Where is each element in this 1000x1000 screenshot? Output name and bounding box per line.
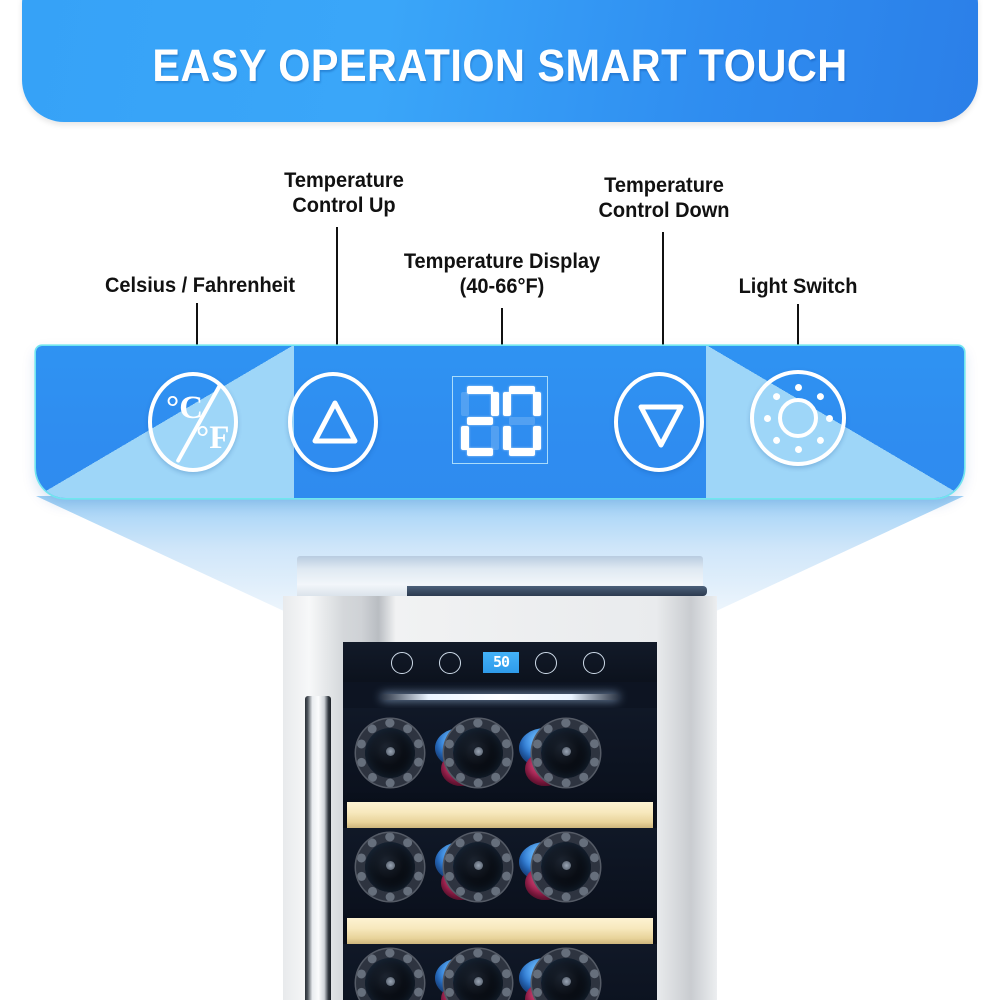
- bottle-row: [343, 714, 657, 800]
- wine-cooler: 50: [283, 556, 717, 1000]
- callout-label-temperature-display: Temperature Display (40-66°F): [390, 249, 613, 299]
- mini-sun-icon[interactable]: [583, 652, 605, 674]
- callout-label-celsius-fahrenheit: Celsius / Fahrenheit: [100, 273, 301, 298]
- infographic-canvas: EASY OPERATION SMART TOUCH Celsius / Fah…: [0, 0, 1000, 1000]
- triangle-down-icon: [614, 372, 704, 472]
- mini-triangle-down-icon[interactable]: [535, 652, 557, 674]
- wooden-shelf: [347, 802, 653, 828]
- temp-up-button[interactable]: [288, 372, 378, 472]
- mini-celsius-fahrenheit-icon[interactable]: [391, 652, 413, 674]
- triangle-up-icon: [288, 372, 378, 472]
- mini-triangle-up-icon[interactable]: [439, 652, 461, 674]
- appliance-control-panel: 50: [343, 642, 657, 682]
- fahrenheit-glyph: °F: [196, 420, 229, 457]
- temperature-display: 50: [452, 376, 548, 464]
- mini-temperature-display: 50: [483, 652, 519, 673]
- callout-label-temperature-control-up: Temperature Control Up: [245, 168, 442, 218]
- bottle-row: [343, 948, 657, 1000]
- magnified-control-panel: °C °F: [36, 346, 964, 498]
- header-banner: EASY OPERATION SMART TOUCH: [22, 0, 978, 122]
- door-top-edge: [407, 586, 707, 596]
- callout-label-temperature-control-down: Temperature Control Down: [565, 173, 762, 223]
- light-switch-button[interactable]: [750, 370, 846, 466]
- interior-led-strip: [381, 694, 619, 700]
- bottle-row: [343, 832, 657, 918]
- page-title: EASY OPERATION SMART TOUCH: [60, 40, 940, 92]
- cooler-body: 50: [283, 596, 717, 1000]
- glass-door: 50: [343, 642, 657, 1000]
- celsius-fahrenheit-icon: °C °F: [148, 372, 238, 472]
- sun-icon: [750, 370, 846, 466]
- leader-line-temperature-control-up: [336, 227, 338, 363]
- callout-label-light-switch: Light Switch: [707, 274, 889, 299]
- wooden-shelf: [347, 918, 653, 944]
- temp-down-button[interactable]: [614, 372, 704, 472]
- seven-segment-display: 50: [452, 376, 548, 464]
- celsius-fahrenheit-button[interactable]: °C °F: [148, 372, 238, 472]
- leader-line-temperature-control-down: [662, 232, 664, 363]
- door-handle[interactable]: [305, 696, 331, 1000]
